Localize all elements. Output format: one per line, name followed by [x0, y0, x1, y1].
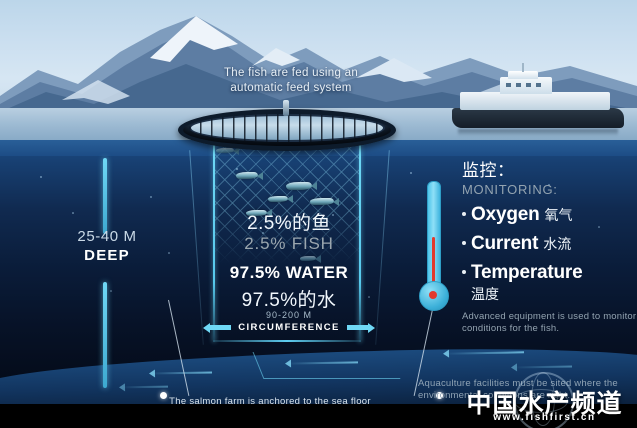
- bullet-icon: [462, 241, 466, 245]
- bullet-icon: [462, 212, 466, 216]
- pen-bottom-edge: [213, 340, 361, 342]
- monitoring-title-cn: 监控：: [462, 156, 637, 181]
- feed-system-post: [283, 100, 289, 116]
- depth-label: DEEP: [58, 247, 156, 264]
- circumference-value: 90-200 M: [191, 310, 387, 320]
- fish-percent-en: 2.5% FISH: [191, 234, 387, 254]
- current-label-en: Current: [471, 233, 538, 255]
- arrow-left-icon: [209, 325, 231, 330]
- arrow-right-icon: [347, 325, 369, 330]
- fish-percent-cn: 2.5%的鱼: [191, 208, 387, 235]
- monitoring-panel: 监控： MONITORING: Oxygen 氧气 Current 水流 Tem…: [462, 156, 637, 335]
- watermark: 中国水产频道 www.fishfirst.cn: [452, 376, 637, 428]
- monitoring-title-en: MONITORING:: [462, 182, 637, 197]
- oxygen-label-cn: 氧气: [545, 205, 573, 225]
- feed-system-caption: The fish are fed using an automatic feed…: [196, 66, 386, 96]
- oxygen-label-en: Oxygen: [471, 204, 540, 226]
- infographic-salmon-farm: The fish are fed using an automatic feed…: [0, 0, 637, 428]
- circular-fish-pen-ring: [178, 109, 396, 151]
- circumference-row: CIRCUMFERENCE: [191, 322, 387, 333]
- service-vessel: [452, 72, 624, 134]
- thermometer-icon: [416, 181, 450, 317]
- temperature-label-cn: 温度: [471, 284, 637, 304]
- mooring-frame: [253, 352, 401, 379]
- monitoring-item-temperature: Temperature: [462, 262, 637, 284]
- circumference-label: CIRCUMFERENCE: [238, 322, 340, 333]
- watermark-url: www.fishfirst.cn: [452, 412, 637, 423]
- monitoring-item-oxygen: Oxygen 氧气: [462, 204, 637, 226]
- anchor-caption: The salmon farm is anchored to the sea f…: [150, 396, 390, 407]
- current-label-cn: 水流: [543, 234, 571, 254]
- monitoring-note: Advanced equipment is used to monitor co…: [462, 311, 637, 335]
- temperature-label-en: Temperature: [471, 262, 583, 284]
- depth-label-group: 25-40 M DEEP: [58, 228, 156, 264]
- water-percent-en: 97.5% WATER: [191, 263, 387, 283]
- bullet-icon: [462, 270, 466, 274]
- depth-indicator: [103, 158, 107, 388]
- monitoring-item-current: Current 水流: [462, 233, 637, 255]
- water-percent-cn: 97.5%的水: [191, 285, 387, 312]
- depth-value: 25-40 M: [58, 228, 156, 245]
